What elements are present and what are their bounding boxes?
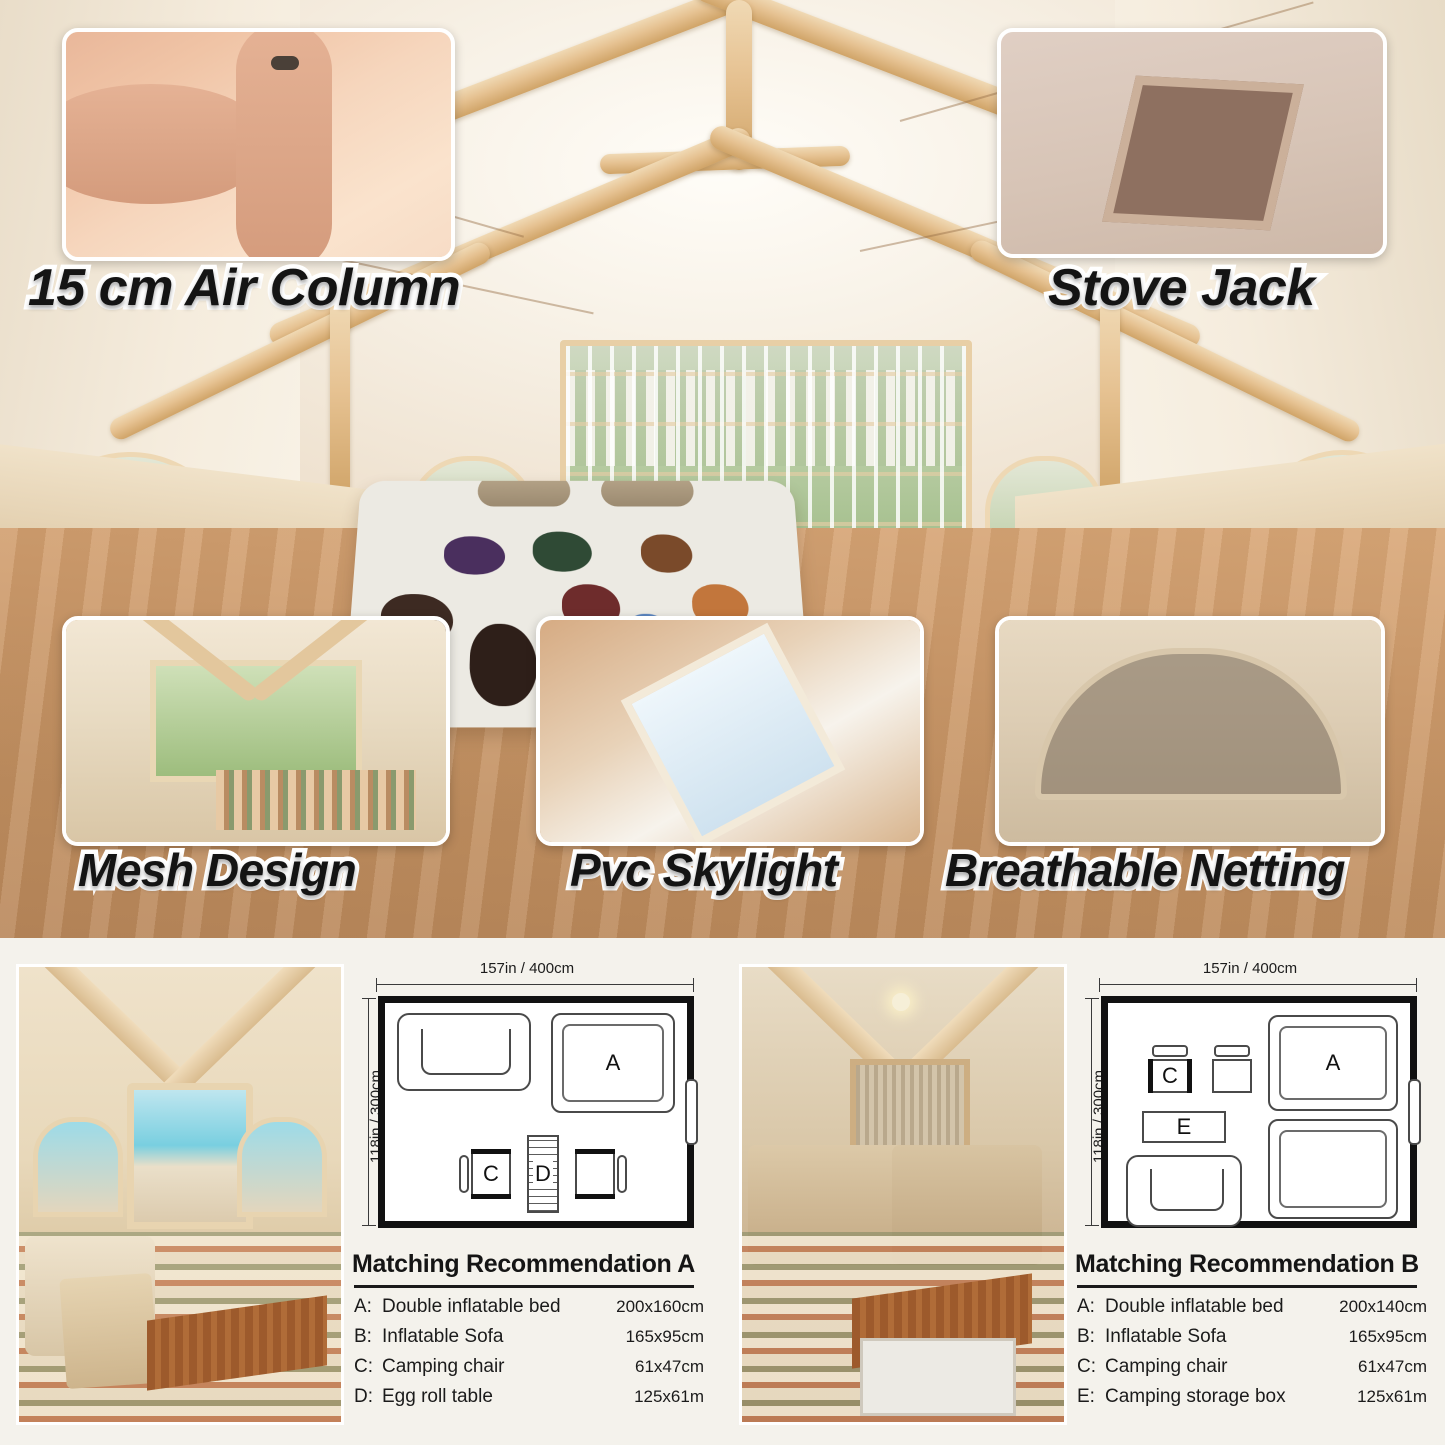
- quilt-figure-6: [443, 536, 505, 574]
- feature-label-breathable-netting: Breathable Netting: [945, 843, 1345, 897]
- recommendation-a-rule: [354, 1285, 694, 1288]
- plan-a-chair-right-arm: [617, 1155, 627, 1193]
- photo-a-side-window-right: [237, 1117, 327, 1217]
- feature-label-air-column: 15 cm Air Column: [28, 258, 460, 318]
- plan-a-marker-chair: C: [483, 1161, 499, 1187]
- plan-b-marker-chair: C: [1162, 1063, 1178, 1089]
- inset-photo-breathable-netting: [995, 616, 1385, 846]
- plan-a-chair-right: [575, 1151, 615, 1197]
- legend-dim: 125x61m: [584, 1387, 704, 1407]
- feature-label-pvc-skylight: Pvc Skylight: [570, 843, 838, 897]
- valve-icon: [271, 56, 299, 70]
- feature-label-stove-jack: Stove Jack: [1048, 258, 1315, 318]
- plan-b-bed-bottom: [1268, 1119, 1398, 1219]
- legend-row: C: Camping chair 61x47cm: [354, 1356, 704, 1378]
- plan-b-height-tick-top: [1085, 998, 1099, 999]
- legend-dim: 61x47cm: [1307, 1357, 1427, 1377]
- legend-name: Camping storage box: [1105, 1386, 1307, 1408]
- legend-name: Double inflatable bed: [382, 1296, 584, 1318]
- product-infographic: 15 cm Air Column Stove Jack Mesh Design …: [0, 0, 1445, 1445]
- plan-a-sofa-seat: [421, 1029, 511, 1075]
- plan-b-height-tick-bottom: [1085, 1225, 1099, 1226]
- plan-a-door-strip: [685, 1079, 698, 1145]
- plan-a-bed-outline: A: [551, 1013, 675, 1113]
- legend-key: C:: [1077, 1356, 1105, 1378]
- feature-label-mesh-design: Mesh Design: [78, 843, 356, 897]
- plan-b-bed-bottom-mattress: [1279, 1130, 1387, 1208]
- photo-a-side-window-left: [33, 1117, 123, 1217]
- plan-b-marker-bed: A: [1326, 1050, 1341, 1076]
- legend-row: A: Double inflatable bed 200x140cm: [1077, 1296, 1427, 1318]
- legend-name: Egg roll table: [382, 1386, 584, 1408]
- legend-name: Camping chair: [1105, 1356, 1307, 1378]
- recommendation-b-legend: A: Double inflatable bed 200x140cm B: In…: [1077, 1296, 1427, 1416]
- legend-dim: 165x95cm: [1307, 1327, 1427, 1347]
- legend-key: D:: [354, 1386, 382, 1408]
- inset-photo-pvc-skylight: [536, 616, 924, 846]
- plan-b-chair-right: [1212, 1059, 1252, 1093]
- tent-post-right: [1100, 300, 1120, 500]
- plan-a-height-tick-bottom: [362, 1225, 376, 1226]
- legend-row: A: Double inflatable bed 200x160cm: [354, 1296, 704, 1318]
- legend-row: E: Camping storage box 125x61m: [1077, 1386, 1427, 1408]
- stove-jack-closeup: [1001, 32, 1383, 254]
- photo-a-front-window: [127, 1083, 253, 1229]
- recommendation-a-title: Matching Recommendation A: [352, 1250, 704, 1279]
- legend-dim: 125x61m: [1307, 1387, 1427, 1407]
- tent-post-left: [330, 300, 350, 500]
- mosquito-net-dome: [1035, 648, 1347, 800]
- legend-dim: 200x160cm: [584, 1297, 704, 1317]
- plan-b-storage-box: E: [1142, 1111, 1226, 1143]
- legend-name: Double inflatable bed: [1105, 1296, 1307, 1318]
- plan-a-width-label: 157in / 400cm: [352, 960, 702, 977]
- air-tube-horizontal: [62, 84, 256, 204]
- skylight-opening: [621, 623, 846, 846]
- plan-b-chair-right-back: [1214, 1045, 1250, 1057]
- breathable-netting-closeup: [999, 620, 1381, 842]
- legend-name: Inflatable Sofa: [1105, 1326, 1307, 1348]
- plan-a-chair-left-front: [471, 1194, 511, 1199]
- plan-b-sofa-seat: [1150, 1169, 1224, 1211]
- plan-b-width-line: [1099, 984, 1417, 985]
- plan-b-chair-left-back: [1152, 1045, 1188, 1057]
- pvc-skylight-closeup: [540, 620, 920, 842]
- legend-key: B:: [1077, 1326, 1105, 1348]
- recommendation-b-rule: [1077, 1285, 1417, 1288]
- floor-plan-a-dimensions: 157in / 400cm 118in / 300cm B: [352, 958, 702, 1238]
- legend-dim: 200x140cm: [1307, 1297, 1427, 1317]
- photo-b-storage-box: [860, 1338, 1016, 1416]
- plan-b-width-tick-right: [1416, 978, 1417, 992]
- plan-a-chair-right-front: [575, 1194, 615, 1199]
- recommendation-a-legend: A: Double inflatable bed 200x160cm B: In…: [354, 1296, 704, 1416]
- mesh-window-view: [150, 660, 362, 782]
- plan-b-bed-top: A: [1268, 1015, 1398, 1111]
- floor-plan-b-dimensions: 157in / 400cm 118in / 300cm C: [1075, 958, 1425, 1238]
- floor-plan-b: C E B: [1101, 996, 1417, 1228]
- plan-a-chair-left-arm: [459, 1155, 469, 1193]
- legend-dim: 61x47cm: [584, 1357, 704, 1377]
- plan-b-chair-left-armblk1: [1148, 1059, 1153, 1093]
- legend-key: E:: [1077, 1386, 1105, 1408]
- legend-key: A:: [1077, 1296, 1105, 1318]
- legend-row: B: Inflatable Sofa 165x95cm: [1077, 1326, 1427, 1348]
- quilt-figure-7: [532, 532, 591, 572]
- stove-jack-flap: [1102, 76, 1304, 231]
- plan-a-chair-left: C: [471, 1151, 511, 1197]
- plan-b-width-label: 157in / 400cm: [1075, 960, 1425, 977]
- pillow-right: [601, 481, 694, 507]
- hero-tent-interior-photo: 15 cm Air Column Stove Jack Mesh Design …: [0, 0, 1445, 938]
- mesh-design-closeup: [66, 620, 446, 842]
- floor-plan-a: B A C: [378, 996, 694, 1228]
- recommendations-section: 157in / 400cm 118in / 300cm B: [0, 938, 1445, 1445]
- plan-a-width-line: [376, 984, 694, 985]
- plan-a-marker-bed: A: [606, 1050, 621, 1076]
- pillow-left: [477, 481, 570, 507]
- photo-interior-beach-view: [16, 964, 344, 1425]
- legend-key: B:: [354, 1326, 382, 1348]
- photo-interior-with-beds: [739, 964, 1067, 1425]
- legend-key: C:: [354, 1356, 382, 1378]
- legend-key: A:: [354, 1296, 382, 1318]
- air-column-closeup: [66, 32, 451, 257]
- legend-name: Camping chair: [382, 1356, 584, 1378]
- plan-a-width-tick-left: [376, 978, 377, 992]
- plan-a-height-tick-top: [362, 998, 376, 999]
- legend-name: Inflatable Sofa: [382, 1326, 584, 1348]
- plan-a-table: D: [527, 1135, 559, 1213]
- plan-b-width-tick-left: [1099, 978, 1100, 992]
- legend-row: B: Inflatable Sofa 165x95cm: [354, 1326, 704, 1348]
- legend-row: C: Camping chair 61x47cm: [1077, 1356, 1427, 1378]
- recommendation-b-title: Matching Recommendation B: [1075, 1250, 1427, 1279]
- photo-a-camping-chair: [59, 1273, 158, 1389]
- legend-dim: 165x95cm: [584, 1327, 704, 1347]
- plan-a-height-line: [368, 998, 369, 1226]
- plan-b-marker-box: E: [1177, 1114, 1192, 1140]
- plan-a-chair-left-back: [471, 1149, 511, 1154]
- interior-rug: [216, 770, 416, 830]
- recommendation-panel-b: 157in / 400cm 118in / 300cm C: [723, 938, 1445, 1445]
- inset-photo-air-column: [62, 28, 455, 261]
- plan-b-door-strip: [1408, 1079, 1421, 1145]
- plan-b-height-line: [1091, 998, 1092, 1226]
- inset-photo-mesh-design: [62, 616, 450, 846]
- plan-a-width-tick-right: [693, 978, 694, 992]
- plan-a-chair-right-back: [575, 1149, 615, 1154]
- recommendation-panel-a: 157in / 400cm 118in / 300cm B: [0, 938, 722, 1445]
- plan-b-chair-left: C: [1150, 1059, 1190, 1093]
- inset-photo-stove-jack: [997, 28, 1387, 258]
- plan-b-chair-left-armblk2: [1187, 1059, 1192, 1093]
- legend-row: D: Egg roll table 125x61m: [354, 1386, 704, 1408]
- photo-b-lantern: [892, 993, 910, 1011]
- plan-a-marker-table: D: [533, 1161, 553, 1187]
